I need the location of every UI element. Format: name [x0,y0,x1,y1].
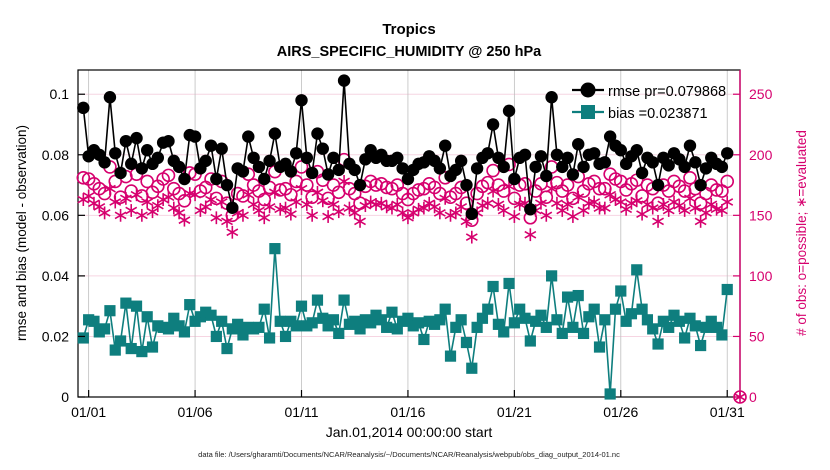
data-point-rmse [136,162,148,174]
data-point-bias [690,320,701,331]
data-point-bias [589,304,600,315]
bottom-tick-label: 01/21 [497,404,532,420]
data-point-bias [573,290,584,301]
data-point-bias [567,322,578,333]
data-point-bias [482,304,493,315]
right-tick-label: 250 [749,86,773,102]
plot-title-variable: AIRS_SPECIFIC_HUMIDITY @ 250 hPa [277,44,542,60]
data-point-bias [216,316,227,327]
data-point-bias [386,307,397,318]
data-point-rmse [466,208,478,220]
data-point-rmse [716,161,728,173]
data-point-rmse [322,168,334,180]
data-point-rmse [482,147,494,159]
data-point-bias [147,341,158,352]
data-point-rmse [678,161,690,173]
data-point-bias [498,326,509,337]
bottom-tick-label: 01/16 [390,404,425,420]
data-point-bias [663,322,674,333]
data-point-rmse [354,179,366,191]
data-point-rmse [210,173,222,185]
data-point-rmse [684,139,696,151]
data-point-bias [205,310,216,321]
data-point-bias [78,332,89,343]
data-point-rmse [545,91,557,103]
data-point-rmse [120,135,132,147]
data-point-rmse [104,91,116,103]
left-tick-label: 0.1 [50,86,70,102]
left-tick-label: 0.02 [42,328,69,344]
data-point-rmse [295,94,307,106]
data-point-bias [88,316,99,327]
data-point-bias [445,351,456,362]
data-point-bias [413,317,424,328]
data-point-rmse [221,179,233,191]
data-point-rmse [487,118,499,130]
data-point-bias [232,319,243,330]
data-point-rmse [391,152,403,164]
data-point-rmse [317,143,329,155]
data-point-bias [264,332,275,343]
data-point-bias [615,285,626,296]
data-point-rmse [572,138,584,150]
data-point-bias [509,317,520,328]
data-point-rmse [130,132,142,144]
data-point-bias [461,337,472,348]
data-point-bias [674,316,685,327]
data-point-bias [333,328,344,339]
data-point-bias [652,338,663,349]
data-point-rmse [599,156,611,168]
data-point-bias [546,270,557,281]
data-point-bias [381,322,392,333]
data-point-rmse [173,161,185,173]
data-point-rmse [455,155,467,167]
data-point-bias [126,343,137,354]
data-point-bias [631,264,642,275]
data-point-rmse [662,159,674,171]
data-point-rmse [152,152,164,164]
data-point-bias [99,323,110,334]
data-point-rmse [189,130,201,142]
data-point-rmse [561,152,573,164]
data-point-rmse [535,150,547,162]
data-point-rmse [396,162,408,174]
data-point-rmse [285,165,297,177]
data-point-bias [142,311,153,322]
data-point-rmse [215,143,227,155]
data-point-bias [291,320,302,331]
data-point-bias [541,322,552,333]
data-point-rmse [647,156,659,168]
data-point-rmse [349,164,361,176]
data-point-rmse [178,173,190,185]
bottom-tick-label: 01/06 [178,404,213,420]
data-point-bias [647,323,658,334]
data-point-bias [211,331,222,342]
legend-marker-rmse [581,83,596,98]
data-point-bias [440,304,451,315]
data-point-rmse [333,164,345,176]
right-tick-label: 150 [749,207,773,223]
data-file-footer: data file: /Users/gharamti/Documents/NCA… [198,450,620,459]
data-point-bias [312,295,323,306]
data-point-rmse [311,127,323,139]
data-point-rmse [551,149,563,161]
data-point-bias [599,314,610,325]
data-point-bias [605,388,616,399]
data-point-bias [557,328,568,339]
data-point-rmse [98,156,110,168]
data-point-rmse [237,165,249,177]
right-tick-label: 100 [749,268,773,284]
data-point-bias [179,326,190,337]
data-point-bias [466,363,477,374]
data-point-bias [722,284,733,295]
data-point-bias [338,295,349,306]
data-point-rmse [162,135,174,147]
data-point-bias [679,332,690,343]
data-point-rmse [721,147,733,159]
plot-title-region: Tropics [382,21,435,38]
data-point-rmse [460,179,472,191]
left-axis-label: rmse and bias (model - observation) [14,125,29,341]
data-point-bias [487,281,498,292]
data-point-rmse [242,130,254,142]
data-point-rmse [652,179,664,191]
data-point-rmse [503,105,515,117]
data-point-bias [184,299,195,310]
bottom-tick-label: 01/26 [603,404,638,420]
data-point-bias [253,322,264,333]
data-point-bias [551,314,562,325]
data-point-rmse [290,147,302,159]
right-tick-label: 200 [749,147,773,163]
bottom-axis-label: Jan.01,2014 00:00:00 start [326,424,493,440]
data-point-rmse [508,173,520,185]
data-point-bias [120,298,131,309]
data-point-rmse [200,155,212,167]
data-point-bias [503,278,514,289]
data-point-rmse [109,147,121,159]
data-point-rmse [471,162,483,174]
data-point-bias [221,343,232,354]
data-point-bias [418,334,429,345]
data-point-rmse [205,139,217,151]
data-point-bias [716,329,727,340]
data-point-bias [131,301,142,312]
data-point-rmse [226,202,238,214]
data-point-rmse [567,168,579,180]
data-point-rmse [498,161,510,173]
data-point-rmse [631,144,643,156]
bottom-tick-label: 01/11 [285,404,319,420]
right-axis-label: # of obs: o=possible; ∗=evaluated [794,130,809,336]
data-point-bias [636,304,647,315]
data-point-rmse [529,161,541,173]
data-point-rmse [524,203,536,215]
data-point-rmse [306,167,318,179]
data-point-rmse [77,102,89,114]
left-tick-label: 0.08 [42,147,69,163]
data-point-rmse [588,147,600,159]
data-point-bias [610,304,621,315]
data-point-rmse [615,144,627,156]
data-point-rmse [253,161,265,173]
data-point-bias [328,314,339,325]
data-point-bias [434,314,445,325]
data-point-bias [535,310,546,321]
data-point-rmse [439,139,451,151]
bottom-tick-label: 01/01 [71,404,106,420]
left-tick-label: 0.04 [42,268,69,284]
data-point-rmse [636,167,648,179]
data-point-bias [307,317,318,328]
left-tick-label: 0 [61,389,69,405]
data-point-bias [578,328,589,339]
bottom-tick-label: 01/31 [710,404,745,420]
data-point-rmse [519,149,531,161]
data-point-bias [280,331,291,342]
data-point-rmse [694,179,706,191]
right-tick-label: 0 [749,389,757,405]
data-point-bias [104,305,115,316]
right-tick-label: 50 [749,328,765,344]
observation-diagnostic-plot: Tropics AIRS_SPECIFIC_HUMIDITY @ 250 hPa… [0,0,830,470]
data-point-bias [525,335,536,346]
left-tick-label: 0.06 [42,207,69,223]
data-point-bias [115,335,126,346]
data-point-rmse [434,162,446,174]
data-point-rmse [141,144,153,156]
data-point-bias [456,314,467,325]
data-point-rmse [263,155,275,167]
legend-label-rmse: rmse pr=0.079868 [608,84,726,100]
data-point-bias [594,341,605,352]
data-point-bias [275,316,286,327]
data-point-rmse [258,173,270,185]
data-point-bias [163,323,174,334]
data-point-rmse [114,167,126,179]
data-point-bias [519,313,530,324]
data-point-bias [136,346,147,357]
data-point-bias [259,304,270,315]
legend-marker-bias [581,105,595,119]
data-point-rmse [269,127,281,139]
data-point-rmse [125,158,137,170]
data-point-rmse [577,161,589,173]
data-point-rmse [689,156,701,168]
data-point-bias [626,308,637,319]
data-point-rmse [301,152,313,164]
data-point-bias [296,301,307,312]
data-point-rmse [540,170,552,182]
data-point-bias [269,243,280,254]
data-point-bias [562,291,573,302]
legend-label-bias: bias =0.023871 [608,106,708,122]
data-point-bias [695,340,706,351]
data-point-rmse [338,74,350,86]
data-point-rmse [700,162,712,174]
data-point-rmse [327,152,339,164]
